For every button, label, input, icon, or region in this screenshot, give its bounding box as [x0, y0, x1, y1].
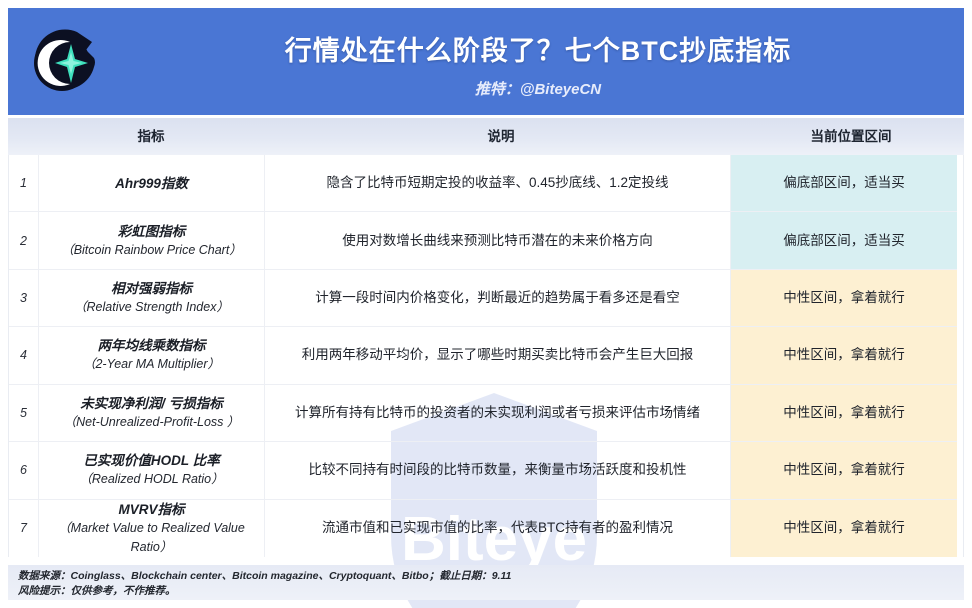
indicator-name-cell: Ahr999指数 [39, 155, 265, 211]
indicator-description: 计算一段时间内价格变化，判断最近的趋势属于看多还是看空 [265, 270, 731, 326]
indicator-name-cell: 未实现净利润/ 亏损指标（Net-Unrealized-Profit-Loss … [39, 385, 265, 441]
indicator-name-cell: 已实现价值HODL 比率（Realized HODL Ratio） [39, 442, 265, 498]
table-row: 3相对强弱指标（Relative Strength Index）计算一段时间内价… [9, 270, 957, 327]
crescent-moon-star-logo-icon [30, 28, 98, 96]
indicator-name-cn: 相对强弱指标 [111, 279, 192, 298]
indicator-description: 比较不同持有时间段的比特币数量，来衡量市场活跃度和投机性 [265, 442, 731, 498]
row-number: 4 [9, 327, 39, 383]
indicator-description: 流通市值和已实现市值的比率，代表BTC持有者的盈利情况 [265, 500, 731, 557]
indicator-name-cn: 彩虹图指标 [118, 222, 186, 241]
indicator-zone: 中性区间，拿着就行 [731, 270, 957, 326]
row-number: 7 [9, 500, 39, 557]
indicator-description: 使用对数增长曲线来预测比特币潜在的未来价格方向 [265, 212, 731, 268]
table-row: 2彩虹图指标（Bitcoin Rainbow Price Chart）使用对数增… [9, 212, 957, 269]
page-title: 行情处在什么阶段了？七个BTC抄底指标 [128, 32, 948, 70]
header-banner: 行情处在什么阶段了？七个BTC抄底指标 推特：@BiteyeCN [8, 8, 964, 115]
indicator-zone: 偏底部区间，适当买 [731, 155, 957, 211]
table-header-row: 指标 说明 当前位置区间 [8, 118, 964, 155]
indicator-name-cn: 未实现净利润/ 亏损指标 [80, 394, 223, 413]
row-number: 2 [9, 212, 39, 268]
indicator-zone: 偏底部区间，适当买 [731, 212, 957, 268]
infographic-page: 行情处在什么阶段了？七个BTC抄底指标 推特：@BiteyeCN 指标 说明 当… [0, 0, 972, 608]
indicator-description: 利用两年移动平均价，显示了哪些时期买卖比特币会产生巨大回报 [265, 327, 731, 383]
table-row: 5未实现净利润/ 亏损指标（Net-Unrealized-Profit-Loss… [9, 385, 957, 442]
indicator-table: Biteye 1Ahr999指数隐含了比特币短期定投的收益率、0.45抄底线、1… [8, 155, 964, 557]
table-row: 7MVRV指标（Market Value to Realized Value R… [9, 500, 957, 557]
indicator-name-cell: 相对强弱指标（Relative Strength Index） [39, 270, 265, 326]
indicator-description: 计算所有持有比特币的投资者的未实现利润或者亏损来评估市场情绪 [265, 385, 731, 441]
indicator-name-cn: 两年均线乘数指标 [98, 336, 206, 355]
indicator-name-cell: 两年均线乘数指标（2-Year MA Multiplier） [39, 327, 265, 383]
indicator-zone: 中性区间，拿着就行 [731, 327, 957, 383]
row-number: 6 [9, 442, 39, 498]
footer-sources: 数据来源：Coinglass、Blockchain center、Bitcoin… [18, 569, 954, 584]
footer-notes: 数据来源：Coinglass、Blockchain center、Bitcoin… [8, 565, 964, 600]
indicator-zone: 中性区间，拿着就行 [731, 385, 957, 441]
table-row: 1Ahr999指数隐含了比特币短期定投的收益率、0.45抄底线、1.2定投线偏底… [9, 155, 957, 212]
indicator-zone: 中性区间，拿着就行 [731, 442, 957, 498]
indicator-name-en: （Relative Strength Index） [74, 298, 229, 317]
table-row: 4两年均线乘数指标（2-Year MA Multiplier）利用两年移动平均价… [9, 327, 957, 384]
twitter-handle: 推特：@BiteyeCN [128, 80, 948, 100]
table-row: 6已实现价值HODL 比率（Realized HODL Ratio）比较不同持有… [9, 442, 957, 499]
indicator-name-cn: 已实现价值HODL 比率 [83, 451, 219, 470]
column-header-indicator: 指标 [38, 118, 264, 155]
indicator-name-cell: 彩虹图指标（Bitcoin Rainbow Price Chart） [39, 212, 265, 268]
footer-disclaimer: 风险提示：仅供参考，不作推荐。 [18, 584, 954, 599]
column-header-zone: 当前位置区间 [738, 118, 964, 155]
indicator-description: 隐含了比特币短期定投的收益率、0.45抄底线、1.2定投线 [265, 155, 731, 211]
row-number: 1 [9, 155, 39, 211]
indicator-name-en: （Bitcoin Rainbow Price Chart） [61, 241, 242, 260]
indicator-name-cn: MVRV指标 [118, 500, 184, 519]
row-number: 5 [9, 385, 39, 441]
row-number: 3 [9, 270, 39, 326]
indicator-name-en: （Net-Unrealized-Profit-Loss ） [64, 413, 240, 432]
indicator-name-en: （Market Value to Realized Value Ratio） [47, 519, 256, 557]
indicator-name-en: （Realized HODL Ratio） [79, 470, 223, 489]
indicator-name-en: （2-Year MA Multiplier） [83, 355, 220, 374]
column-header-description: 说明 [264, 118, 738, 155]
indicator-name-cn: Ahr999指数 [115, 174, 188, 193]
indicator-zone: 中性区间，拿着就行 [731, 500, 957, 557]
indicator-name-cell: MVRV指标（Market Value to Realized Value Ra… [39, 500, 265, 557]
